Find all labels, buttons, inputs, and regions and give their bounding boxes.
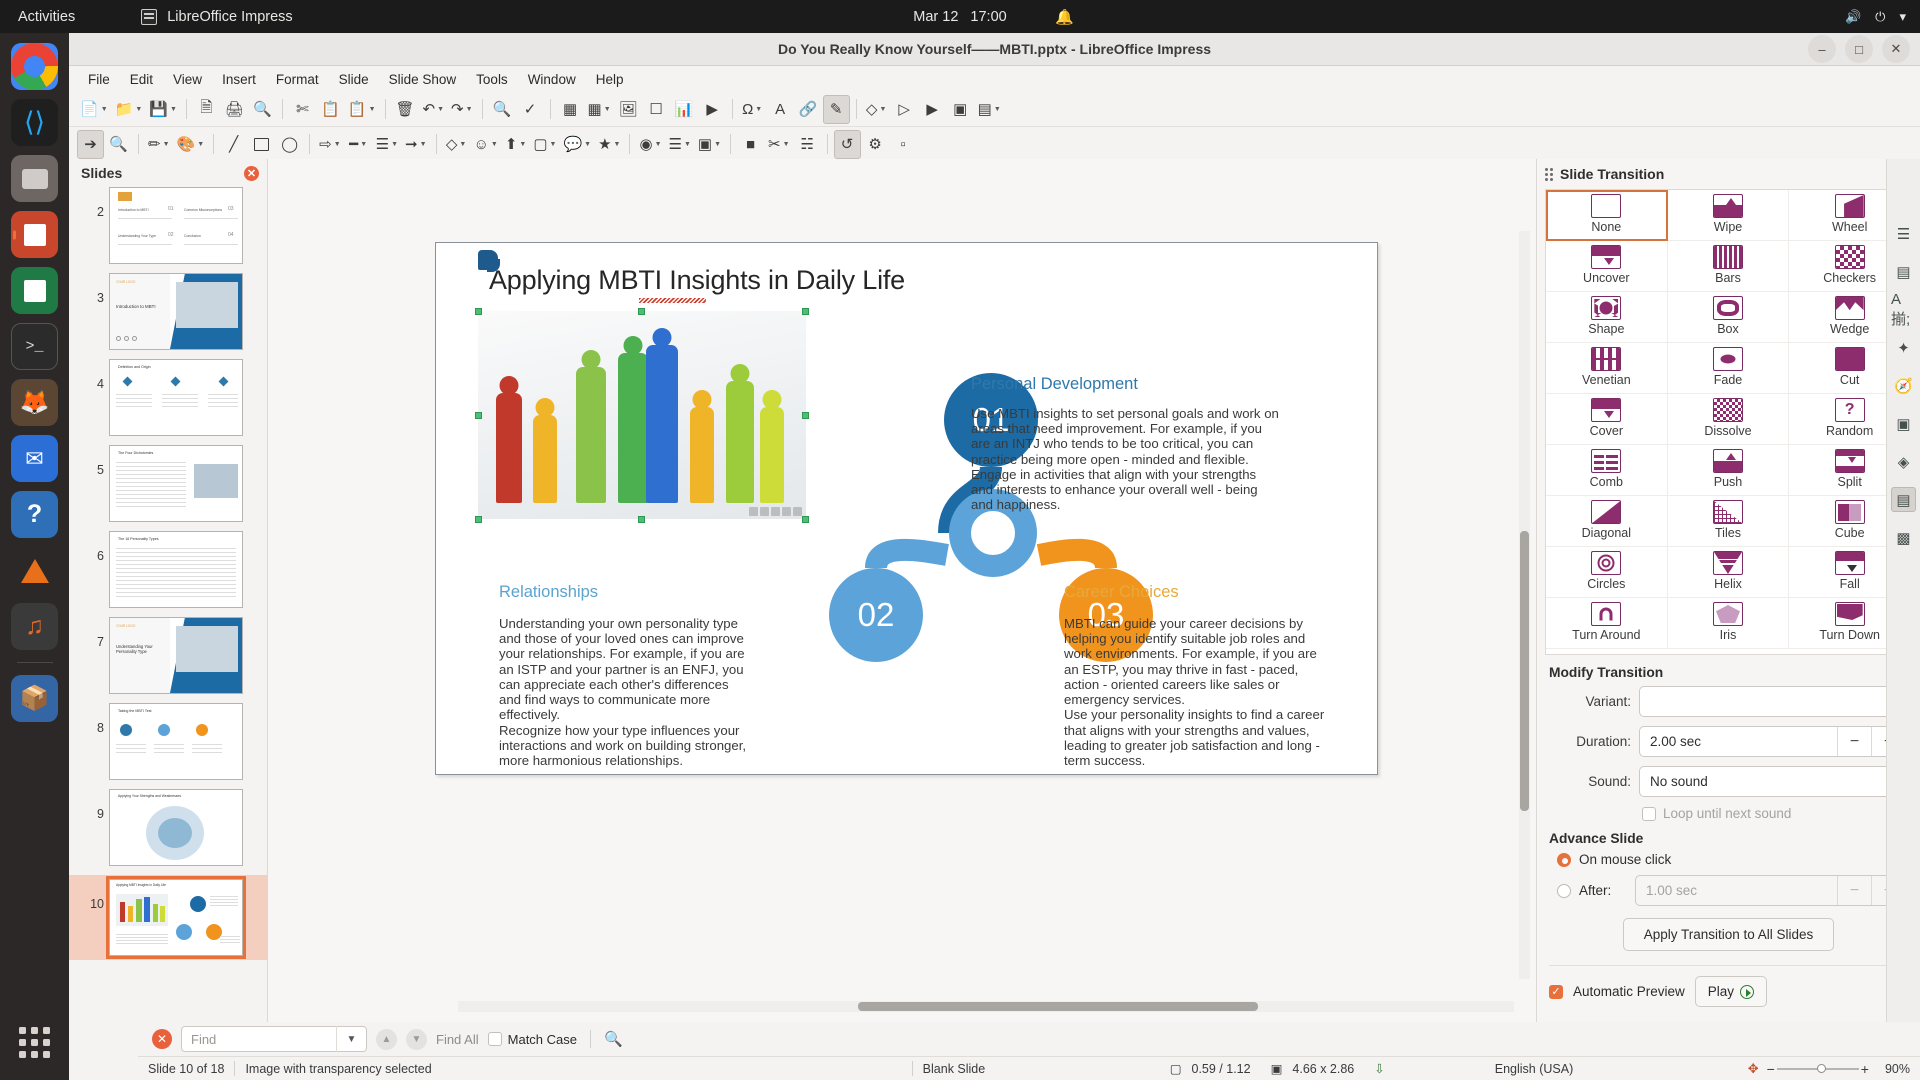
- slide-number: 5: [87, 445, 104, 477]
- horizontal-scrollbar-thumb[interactable]: [858, 1002, 1258, 1011]
- toolbar-separator: [138, 134, 139, 154]
- toolbar-separator: [436, 134, 437, 154]
- gnome-top-bar: Activities LibreOffice Impress Mar 12 17…: [0, 0, 1920, 33]
- print-preview-button[interactable]: 🔍: [249, 95, 276, 124]
- transition-label: Wheel: [1832, 220, 1867, 234]
- main-area: Slides ✕ 2 Introduction to MBTI01 Common…: [69, 159, 1920, 1023]
- slide-number: 4: [87, 359, 104, 391]
- push-icon: [1713, 449, 1743, 473]
- cover-icon: [1591, 398, 1621, 422]
- menu-slide-show[interactable]: Slide Show: [380, 69, 466, 90]
- status-language: English (USA): [1485, 1062, 1584, 1076]
- active-app-name: LibreOffice Impress: [167, 9, 292, 25]
- arrow-style-button[interactable]: ➞▼: [402, 130, 430, 159]
- animation-icon[interactable]: ◈: [1891, 449, 1916, 474]
- slide-preview[interactable]: Definition and Origin: [109, 359, 243, 436]
- slide-number: 3: [87, 273, 104, 305]
- filter-button[interactable]: ☵: [794, 130, 821, 159]
- zoom-out-button[interactable]: −: [1767, 1061, 1775, 1077]
- transition-fade[interactable]: Fade: [1668, 343, 1790, 394]
- loop-checkbox[interactable]: [1642, 807, 1656, 821]
- position-icon: ▢: [1160, 1061, 1192, 1076]
- new-button[interactable]: 📄▼: [77, 95, 111, 124]
- menu-file[interactable]: File: [79, 69, 119, 90]
- slide-preview[interactable]: The 16 Personality Types: [109, 531, 243, 608]
- master-slides-icon[interactable]: ▣: [1891, 411, 1916, 436]
- automatic-preview-checkbox[interactable]: ✓: [1549, 985, 1563, 999]
- uncover-icon: [1591, 245, 1621, 269]
- line-style-button[interactable]: ━▼: [345, 130, 372, 159]
- slide-number: 6: [87, 531, 104, 563]
- transition-diagonal[interactable]: Diagonal: [1546, 496, 1668, 547]
- zoom-in-button[interactable]: +: [1861, 1061, 1869, 1077]
- slide-preview[interactable]: Applying MBTI Insights in Daily Life: [109, 879, 243, 956]
- minimize-button[interactable]: –: [1808, 35, 1836, 63]
- menu-insert[interactable]: Insert: [213, 69, 265, 90]
- slide-preview[interactable]: Applying Your Strengths and Weaknesses: [109, 789, 243, 866]
- paragraph: MBTI can guide your career decisions by …: [1064, 616, 1326, 707]
- symbol-shapes-tool[interactable]: ☺▼: [471, 130, 501, 159]
- split-icon: [1835, 449, 1865, 473]
- menu-format[interactable]: Format: [267, 69, 328, 90]
- volume-icon[interactable]: 🔊: [1845, 9, 1861, 25]
- slides-thumbnail-list[interactable]: 2 Introduction to MBTI01 Common Misconce…: [69, 187, 267, 1023]
- duration-value: 2.00 sec: [1650, 734, 1701, 749]
- play-label: Play: [1708, 984, 1734, 999]
- crop-image-button[interactable]: ✂▼: [765, 130, 793, 159]
- dock-icon-gimp[interactable]: [11, 379, 58, 426]
- dock-icon-terminal[interactable]: >_: [11, 323, 58, 370]
- loop-until-next-sound-row[interactable]: Loop until next sound: [1642, 806, 1920, 821]
- application-window: Activities LibreOffice Impress Mar 12 17…: [0, 0, 1920, 1080]
- transition-label: Shape: [1588, 322, 1624, 336]
- select-tool[interactable]: ➔: [77, 130, 104, 159]
- spellcheck-underline: [639, 298, 706, 303]
- box-icon: [1713, 296, 1743, 320]
- zoom-track[interactable]: [1777, 1068, 1859, 1070]
- fit-slide-icon[interactable]: ⇩: [1364, 1061, 1394, 1076]
- transition-cover[interactable]: Cover: [1546, 394, 1668, 445]
- close-button[interactable]: ✕: [1882, 35, 1910, 63]
- paragraph: Engage in activities that align with you…: [971, 467, 1281, 513]
- line-width-button[interactable]: ☰▼: [373, 130, 401, 159]
- sound-select[interactable]: No sound ▼: [1639, 766, 1906, 797]
- play-button[interactable]: Play: [1695, 976, 1767, 1007]
- insert-hyperlink-button[interactable]: 🔗: [795, 95, 822, 124]
- transition-turn-around[interactable]: Turn Around: [1546, 598, 1668, 649]
- status-zoom: 90%: [1875, 1062, 1920, 1076]
- arrow-shapes-tool[interactable]: ⇨▼: [316, 130, 344, 159]
- on-mouse-click-radio[interactable]: [1557, 853, 1571, 867]
- insert-fontwork-button[interactable]: A: [767, 95, 794, 124]
- toolbar-separator: [186, 99, 187, 119]
- insert-special-character-button[interactable]: Ω▼: [739, 95, 766, 124]
- block-arrows-tool[interactable]: ⬆▼: [502, 130, 530, 159]
- transition-tiles[interactable]: Tiles: [1668, 496, 1790, 547]
- people-figures: [478, 311, 806, 519]
- comb-icon: [1591, 449, 1621, 473]
- export-pdf-button[interactable]: 🗎: [193, 95, 220, 124]
- none-icon: [1591, 194, 1621, 218]
- master-slide-button[interactable]: ▣: [947, 95, 974, 124]
- paste-button[interactable]: 📋▼: [345, 95, 379, 124]
- insert-table-button[interactable]: ▦▼: [585, 95, 614, 124]
- find-input[interactable]: Find ▼: [181, 1026, 367, 1052]
- slide-thumbnail-4[interactable]: 4Definition and Origin: [87, 359, 267, 436]
- dock-icon-thunderbird[interactable]: [11, 435, 58, 482]
- standard-toolbar: 📄▼ 📁▼ 💾▼ 🗎 🖨 🔍 ✄ 📋 📋▼ 🗑 ↶▼ ↷▼ 🔍 ✓ ▦ ▦▼ 🖼…: [69, 92, 1920, 127]
- menu-window[interactable]: Window: [519, 69, 585, 90]
- stars-tool[interactable]: ★▼: [595, 130, 623, 159]
- styles-icon[interactable]: A揃;: [1891, 297, 1916, 322]
- slide-number: 7: [87, 617, 104, 649]
- dock-separator: [17, 662, 53, 663]
- close-icon[interactable]: ✕: [244, 166, 259, 181]
- slides-panel-header: Slides ✕: [69, 159, 267, 187]
- shape-icon: [1591, 296, 1621, 320]
- transition-grid[interactable]: NoneWipeWheelUncoverBarsCheckersShapeBox…: [1545, 189, 1912, 655]
- insert-line-tool[interactable]: ╱: [220, 130, 247, 159]
- navigator-icon[interactable]: 🧭: [1891, 373, 1916, 398]
- slide-preview[interactable]: YOUR LOGO Understanding Your Personality…: [109, 617, 243, 694]
- rotate-button[interactable]: ↺: [834, 130, 861, 159]
- size-icon: ▣: [1261, 1061, 1293, 1076]
- slide-properties-button[interactable]: ▤▼: [975, 95, 1004, 124]
- after-decrement-button[interactable]: −: [1837, 876, 1871, 905]
- sound-row: Sound: No sound ▼: [1549, 766, 1906, 797]
- fade-icon: [1713, 347, 1743, 371]
- horizontal-scrollbar[interactable]: [458, 1001, 1514, 1012]
- clone-formatting-button[interactable]: 🗑: [392, 95, 419, 124]
- transition-label: Push: [1714, 475, 1743, 489]
- after-value: 1.00 sec: [1646, 883, 1697, 898]
- power-icon[interactable]: ⏻: [1875, 9, 1885, 25]
- window-controls: – □ ✕: [1808, 35, 1910, 63]
- iris-icon: [1713, 602, 1743, 626]
- slide-thumbnail-6[interactable]: 6The 16 Personality Types: [87, 531, 267, 608]
- transition-label: Uncover: [1583, 271, 1630, 285]
- duration-decrement-button[interactable]: −: [1837, 727, 1871, 756]
- chevron-down-icon[interactable]: ▼: [336, 1026, 366, 1052]
- toolbar-separator: [827, 134, 828, 154]
- tiles-icon: [1713, 500, 1743, 524]
- loop-label: Loop until next sound: [1663, 806, 1791, 821]
- transition-comb[interactable]: Comb: [1546, 445, 1668, 496]
- toolbar-separator: [730, 134, 731, 154]
- slide-preview[interactable]: Taking the MBTI Test: [109, 703, 243, 780]
- insert-media-button[interactable]: ▶: [699, 95, 726, 124]
- ellipse-tool[interactable]: ◯: [276, 130, 303, 159]
- text-career-choices[interactable]: MBTI can guide your career decisions by …: [1064, 616, 1326, 768]
- impress-window: Do You Really Know Yourself——MBTI.pptx -…: [69, 33, 1920, 1080]
- transition-uncover[interactable]: Uncover: [1546, 241, 1668, 292]
- 3d-objects-tool[interactable]: ◉▼: [636, 130, 664, 159]
- insert-shapes-button[interactable]: ◇▼: [863, 95, 890, 124]
- align-objects-button[interactable]: ☰▼: [666, 130, 694, 159]
- callout-tool[interactable]: 💬▼: [560, 130, 594, 159]
- divider: [1549, 965, 1908, 966]
- find-and-replace-icon[interactable]: 🔍: [604, 1030, 623, 1048]
- vertical-scrollbar-thumb[interactable]: [1520, 531, 1529, 811]
- slide-preview[interactable]: YOUR LOGO Introduction to MBTI: [109, 273, 243, 350]
- sidebar-settings-icon[interactable]: ☰: [1891, 221, 1916, 246]
- slide-number: 9: [87, 789, 104, 821]
- chevron-down-icon[interactable]: ▾: [1899, 9, 1906, 25]
- dock-icon-vscode[interactable]: ⟨⟩: [11, 99, 58, 146]
- transition-dissolve[interactable]: Dissolve: [1668, 394, 1790, 445]
- variant-select[interactable]: ▼: [1639, 686, 1906, 717]
- play-icon: [1740, 985, 1754, 999]
- bars-icon: [1713, 245, 1743, 269]
- transition-label: Dissolve: [1704, 424, 1751, 438]
- paragraph: Use your personality insights to find a …: [1064, 707, 1326, 768]
- spelling-button[interactable]: ✓: [517, 95, 544, 124]
- impress-app-icon: [141, 9, 157, 25]
- print-button[interactable]: 🖨: [221, 95, 248, 124]
- transition-circles[interactable]: Circles: [1546, 547, 1668, 598]
- insert-textbox-button[interactable]: ☐: [643, 95, 670, 124]
- status-layout: Blank Slide: [913, 1062, 996, 1076]
- fit-page-icon[interactable]: ✥: [1748, 1061, 1759, 1077]
- transition-label: Comb: [1590, 475, 1623, 489]
- toolbar-separator: [282, 99, 283, 119]
- toolbar-separator: [213, 134, 214, 154]
- copy-button[interactable]: 📋: [317, 95, 344, 124]
- clock[interactable]: Mar 12 17:00: [913, 9, 1006, 25]
- transition-iris[interactable]: Iris: [1668, 598, 1790, 649]
- clock-time: 17:00: [970, 9, 1006, 25]
- transition-label: Random: [1826, 424, 1873, 438]
- dock-icon-software[interactable]: 📦: [11, 675, 58, 722]
- sidebar-title: Slide Transition: [1560, 166, 1664, 182]
- gallery-icon[interactable]: ✦: [1891, 335, 1916, 360]
- find-all-button[interactable]: Find All: [436, 1032, 479, 1047]
- slide-title[interactable]: Applying MBTI Insights in Daily Life: [489, 265, 905, 296]
- slide-preview[interactable]: Introduction to MBTI01 Common Misconcept…: [109, 187, 243, 264]
- transition-venetian[interactable]: Venetian: [1546, 343, 1668, 394]
- transition-none[interactable]: None: [1546, 190, 1668, 241]
- menu-help[interactable]: Help: [587, 69, 633, 90]
- slide-thumbnail-2[interactable]: 2 Introduction to MBTI01 Common Misconce…: [87, 187, 267, 264]
- slide-number: 2: [87, 187, 104, 219]
- maximize-button[interactable]: □: [1845, 35, 1873, 63]
- start-from-current-slide-button[interactable]: ▶: [919, 95, 946, 124]
- slide-thumbnail-9[interactable]: 9Applying Your Strengths and Weaknesses: [87, 789, 267, 866]
- on-mouse-click-row[interactable]: On mouse click: [1557, 852, 1920, 867]
- sidebar-header: Slide Transition ✕: [1537, 159, 1920, 189]
- transition-label: Wipe: [1714, 220, 1742, 234]
- slide-image-people[interactable]: [478, 311, 806, 519]
- transition-label: Turn Down: [1819, 628, 1880, 642]
- save-button[interactable]: 💾▼: [146, 95, 180, 124]
- duration-row: Duration: 2.00 sec − +: [1549, 726, 1906, 757]
- random-icon: ?: [1835, 398, 1865, 422]
- checkers-icon: [1835, 245, 1865, 269]
- vertical-scrollbar[interactable]: [1519, 231, 1530, 979]
- helix-icon: [1713, 551, 1743, 575]
- text-relationships[interactable]: Understanding your own personality type …: [499, 616, 754, 768]
- transition-box[interactable]: Box: [1668, 292, 1790, 343]
- menu-edit[interactable]: Edit: [121, 69, 162, 90]
- text-personal-development[interactable]: Use MBTI insights to set personal goals …: [971, 406, 1281, 513]
- status-slide-count: Slide 10 of 18: [138, 1062, 234, 1076]
- transition-label: Helix: [1714, 577, 1742, 591]
- status-selection: Image with transparency selected: [235, 1062, 441, 1076]
- dissolve-icon: [1713, 398, 1743, 422]
- variant-row: Variant: ▼: [1549, 686, 1906, 717]
- transition-label: Cut: [1840, 373, 1859, 387]
- menu-bar: File Edit View Insert Format Slide Slide…: [69, 66, 1920, 92]
- fall-icon: [1835, 551, 1865, 575]
- dock-icon-files[interactable]: [11, 155, 58, 202]
- paragraph: Use MBTI insights to set personal goals …: [971, 406, 1281, 467]
- transition-wipe[interactable]: Wipe: [1668, 190, 1790, 241]
- start-from-first-slide-button[interactable]: ▷: [891, 95, 918, 124]
- transition-bars[interactable]: Bars: [1668, 241, 1790, 292]
- transition-label: Circles: [1587, 577, 1625, 591]
- transition-label: Box: [1717, 322, 1739, 336]
- heading-personal-development[interactable]: Personal Development: [971, 375, 1138, 394]
- duration-label: Duration:: [1549, 734, 1631, 749]
- flowchart-tool[interactable]: ▢▼: [530, 130, 559, 159]
- active-app-indicator[interactable]: LibreOffice Impress: [141, 9, 292, 25]
- sound-label: Sound:: [1549, 774, 1631, 789]
- activities-button[interactable]: Activities: [18, 9, 75, 25]
- toolbar-separator: [385, 99, 386, 119]
- shapes-icon[interactable]: ▩: [1891, 525, 1916, 550]
- slide-transition-icon[interactable]: ▤: [1891, 487, 1916, 512]
- display-views-button[interactable]: ▦: [557, 95, 584, 124]
- image-watermark: [749, 507, 802, 516]
- slide-thumbnail-10[interactable]: 10Applying MBTI Insights in Daily Life: [69, 875, 267, 960]
- dock-icon-calc[interactable]: [11, 267, 58, 314]
- system-status-area[interactable]: 🔊 ⏻ ▾: [1845, 9, 1906, 25]
- transition-label: Fade: [1714, 373, 1743, 387]
- close-icon[interactable]: ✕: [152, 1029, 172, 1049]
- sound-value: No sound: [1650, 774, 1708, 789]
- transition-helix[interactable]: Helix: [1668, 547, 1790, 598]
- transition-shape[interactable]: Shape: [1546, 292, 1668, 343]
- find-next-button[interactable]: ▼: [406, 1029, 427, 1050]
- dock-icon-rhythmbox[interactable]: ♫: [11, 603, 58, 650]
- turn-around-icon: [1591, 602, 1621, 626]
- clock-date: Mar 12: [913, 9, 958, 25]
- transition-label: Bars: [1715, 271, 1741, 285]
- slide-editor[interactable]: Applying MBTI Insights in Daily Life: [268, 159, 1536, 1023]
- after-label: After:: [1579, 883, 1627, 898]
- find-replace-button[interactable]: 🔍: [489, 95, 516, 124]
- toolbar-separator: [482, 99, 483, 119]
- after-radio[interactable]: [1557, 884, 1571, 898]
- grip-icon[interactable]: [1545, 168, 1553, 181]
- window-title: Do You Really Know Yourself——MBTI.pptx -…: [778, 41, 1211, 57]
- redo-button[interactable]: ↷▼: [448, 95, 476, 124]
- menu-view[interactable]: View: [164, 69, 211, 90]
- find-previous-button[interactable]: ▲: [376, 1029, 397, 1050]
- line-color-button[interactable]: ✏▼: [145, 130, 173, 159]
- cut-button[interactable]: ✄: [289, 95, 316, 124]
- turn-down-icon: [1835, 602, 1865, 626]
- status-bar: Slide 10 of 18 Image with transparency s…: [138, 1056, 1920, 1080]
- sidebar-tab-rail: ☰ ▤ A揃; ✦ 🧭 ▣ ◈ ▤ ▩: [1886, 159, 1920, 1023]
- transformations-button[interactable]: ⚙: [862, 130, 889, 159]
- zoom-tool[interactable]: 🔍: [105, 130, 132, 159]
- status-position: 0.59 / 1.12: [1192, 1062, 1261, 1076]
- preview-row: ✓ Automatic Preview Play: [1549, 976, 1920, 1007]
- paragraph: Recognize how your type influences your …: [499, 723, 754, 769]
- show-applications-button[interactable]: [11, 1019, 58, 1066]
- show-draw-functions-button[interactable]: ✎: [823, 95, 850, 124]
- ubuntu-dock: ⟨⟩ >_ ♫ 📦: [0, 33, 69, 1080]
- slide-number: 8: [87, 703, 104, 735]
- insert-chart-button[interactable]: 📊: [671, 95, 698, 124]
- points-button[interactable]: ▫: [890, 130, 917, 159]
- bell-icon[interactable]: 🔔: [1055, 8, 1074, 26]
- undo-button[interactable]: ↶▼: [420, 95, 448, 124]
- transition-label: Diagonal: [1582, 526, 1631, 540]
- cube-icon: [1835, 500, 1865, 524]
- apply-transition-to-all-slides-button[interactable]: Apply Transition to All Slides: [1623, 918, 1835, 951]
- insert-image-button[interactable]: 🖼: [615, 95, 642, 124]
- after-spinner[interactable]: 1.00 sec − +: [1635, 875, 1906, 906]
- heading-relationships[interactable]: Relationships: [499, 583, 598, 602]
- drawing-toolbar: ➔ 🔍 ✏▼ 🎨▼ ╱ ◯ ⇨▼ ━▼ ☰▼ ➞▼ ◇▼ ☺▼ ⬆▼ ▢▼ 💬▼…: [69, 127, 1920, 162]
- running-indicator: [13, 230, 16, 239]
- slide-thumbnail-5[interactable]: 5The Four Dichotomies: [87, 445, 267, 522]
- heading-career-choices[interactable]: Career Choices: [1064, 583, 1179, 602]
- zoom-slider[interactable]: − +: [1767, 1061, 1869, 1077]
- match-case-row[interactable]: Match Case: [488, 1032, 577, 1047]
- wedge-icon: [1835, 296, 1865, 320]
- transition-label: Fall: [1840, 577, 1860, 591]
- match-case-checkbox[interactable]: [488, 1032, 502, 1046]
- slide-preview[interactable]: The Four Dichotomies: [109, 445, 243, 522]
- toolbar-separator: [629, 134, 630, 154]
- slide-thumbnail-7[interactable]: 7 YOUR LOGO Understanding Your Personali…: [87, 617, 267, 694]
- fill-color-button[interactable]: 🎨▼: [174, 130, 208, 159]
- on-mouse-click-label: On mouse click: [1579, 852, 1671, 867]
- toolbar-separator: [309, 134, 310, 154]
- node-02[interactable]: 02: [829, 568, 923, 662]
- slide-thumbnail-3[interactable]: 3 YOUR LOGO Introduction to MBTI: [87, 273, 267, 350]
- transition-label: Cube: [1835, 526, 1865, 540]
- menu-tools[interactable]: Tools: [467, 69, 517, 90]
- basic-shapes-tool[interactable]: ◇▼: [443, 130, 470, 159]
- slide-thumbnail-8[interactable]: 8Taking the MBTI Test: [87, 703, 267, 780]
- transition-label: Split: [1837, 475, 1861, 489]
- dock-icon-impress[interactable]: [11, 211, 58, 258]
- shadow-button[interactable]: ■: [737, 130, 764, 159]
- zoom-knob[interactable]: [1817, 1064, 1826, 1073]
- toolbar-separator: [856, 99, 857, 119]
- slide-number: 10: [87, 879, 104, 911]
- after-row: After: 1.00 sec − +: [1549, 875, 1906, 906]
- properties-icon[interactable]: ▤: [1891, 259, 1916, 284]
- dock-icon-chrome[interactable]: [11, 43, 58, 90]
- duration-spinner[interactable]: 2.00 sec − +: [1639, 726, 1906, 757]
- slide-content: Applying MBTI Insights in Daily Life: [436, 243, 1377, 774]
- transition-push[interactable]: Push: [1668, 445, 1790, 496]
- slide-canvas[interactable]: Applying MBTI Insights in Daily Life: [435, 242, 1378, 775]
- transition-label: Venetian: [1582, 373, 1631, 387]
- open-button[interactable]: 📁▼: [112, 95, 146, 124]
- separator: [590, 1030, 591, 1048]
- arrange-button[interactable]: ▣▼: [695, 130, 724, 159]
- menu-slide[interactable]: Slide: [330, 69, 378, 90]
- dock-icon-vlc[interactable]: [11, 547, 58, 594]
- dock-icon-help[interactable]: [11, 491, 58, 538]
- rectangle-tool[interactable]: [248, 130, 275, 159]
